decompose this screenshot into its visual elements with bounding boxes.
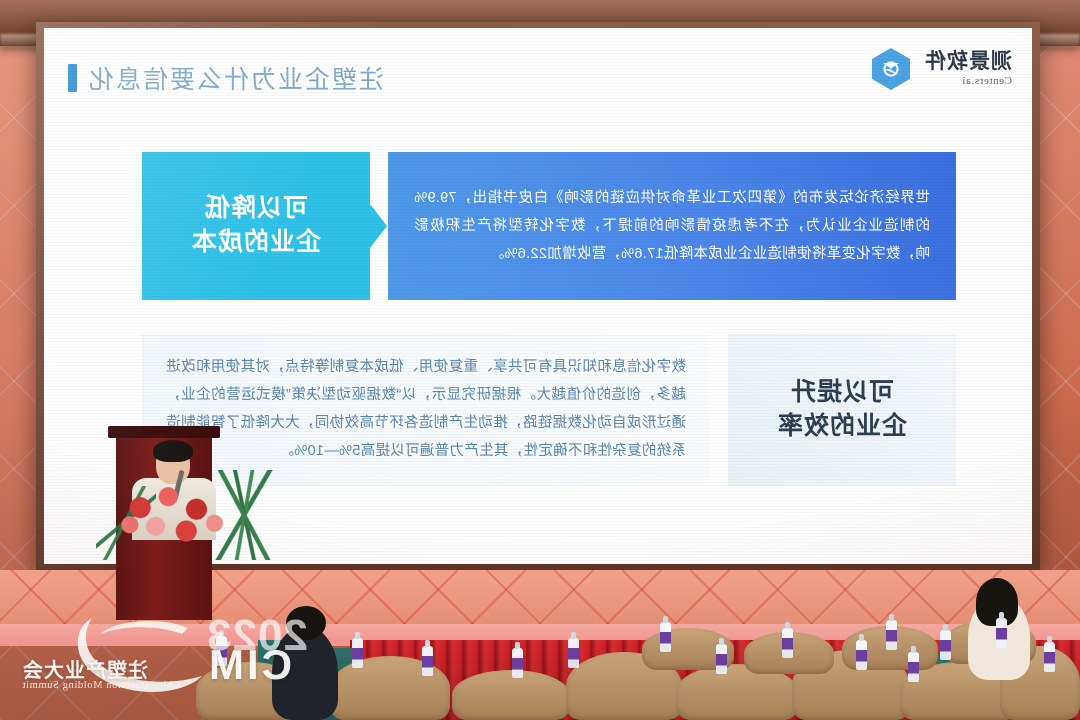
efficiency-body-panel: 数字化信息和知识具有可共享、重复使用、低成本复制等特点，对其使用和改进越多，创造…: [142, 334, 710, 486]
water-bottle: [422, 646, 433, 676]
cost-body-text: 世界经济论坛发布的《第四次工业革命对供应链的影响》白皮书指出，79.9%的制造业…: [414, 184, 930, 269]
conference-photo: 测景软件 Centers.ai 注塑企业为什么要信息化: [0, 0, 1080, 720]
podium-top: [108, 426, 220, 438]
page-title: 注塑企业为什么要信息化: [87, 60, 384, 96]
cost-body-panel: 世界经济论坛发布的《第四次工业革命对供应链的影响》白皮书指出，79.9%的制造业…: [388, 152, 956, 300]
tag-arrow-icon: [370, 204, 387, 248]
cost-tag-label: 可以降低 企业的成本: [191, 192, 321, 260]
title-accent-bar: [68, 64, 77, 92]
water-bottle: [856, 640, 867, 670]
water-bottle: [568, 638, 579, 668]
water-bottle: [660, 622, 671, 652]
event-watermark: 2023 CIM 注塑产业大会 China Injection Molding …: [18, 610, 298, 706]
water-bottle: [352, 638, 363, 668]
efficiency-tag-panel: 可以提升 企业的效率: [728, 334, 956, 486]
content-block-efficiency: 可以提升 企业的效率 数字化信息和知识具有可共享、重复使用、低成本复制等特点，对…: [142, 334, 956, 486]
cost-tag-panel: 可以降低 企业的成本: [142, 152, 370, 300]
water-bottle: [782, 628, 793, 658]
water-bottle: [512, 648, 523, 678]
water-bottle: [886, 620, 897, 650]
centers-hexagon-logo-icon: [868, 46, 914, 92]
audience-chair: [452, 670, 570, 720]
water-bottle: [996, 618, 1007, 648]
palm-leaf-right: [206, 470, 286, 560]
logo-chinese-name: 测景软件: [924, 51, 1012, 72]
efficiency-tag-label: 可以提升 企业的效率: [777, 376, 907, 444]
water-bottle: [908, 652, 919, 682]
company-logo: 测景软件 Centers.ai: [868, 46, 1012, 92]
water-bottle: [1044, 642, 1055, 672]
efficiency-body-text: 数字化信息和知识具有可共享、重复使用、低成本复制等特点，对其使用和改进越多，创造…: [166, 354, 686, 465]
speaker-hair: [153, 440, 193, 462]
watermark-english-name: China Injection Molding Summit: [22, 680, 180, 691]
water-bottle: [716, 644, 727, 674]
content-block-cost: 世界经济论坛发布的《第四次工业革命对供应链的影响》白皮书指出，79.9%的制造业…: [142, 152, 956, 300]
logo-text: 测景软件 Centers.ai: [924, 51, 1012, 87]
slide-title-group: 注塑企业为什么要信息化: [68, 60, 384, 96]
watermark-acronym: CIM: [206, 644, 292, 686]
water-bottle: [940, 630, 951, 660]
watermark-chinese-name: 注塑产业大会: [22, 654, 148, 683]
logo-english-name: Centers.ai: [924, 76, 1012, 87]
